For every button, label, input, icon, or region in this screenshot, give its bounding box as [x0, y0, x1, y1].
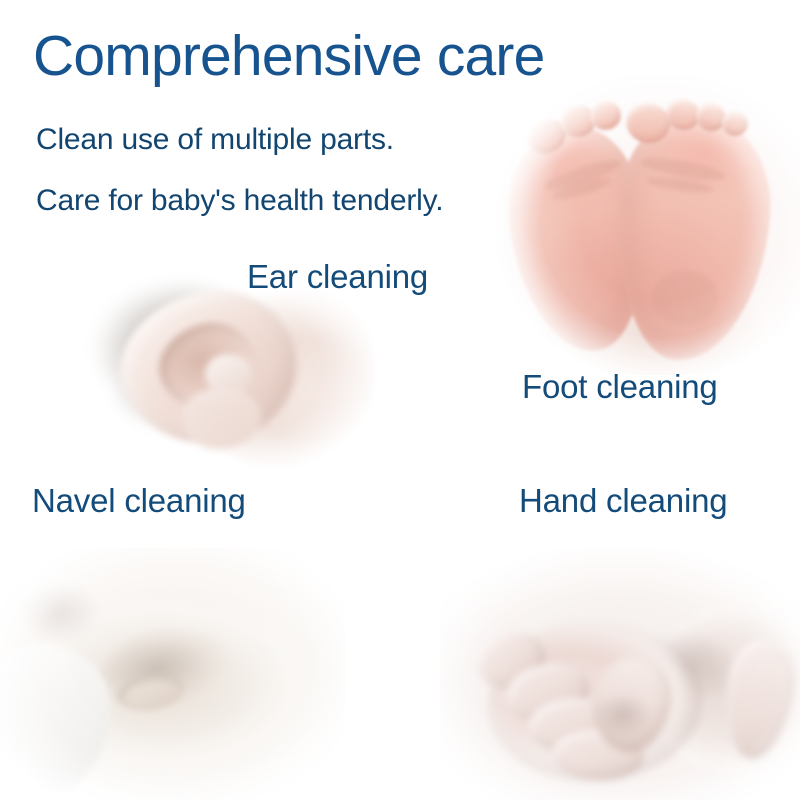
baby-feet-photo: [490, 75, 800, 375]
page-title: Comprehensive care: [33, 27, 545, 87]
baby-navel-photo: [0, 548, 345, 800]
baby-hand-photo: [440, 548, 800, 800]
label-navel-cleaning: Navel cleaning: [32, 482, 246, 520]
label-ear-cleaning: Ear cleaning: [247, 258, 428, 296]
product-care-poster: Comprehensive care Clean use of multiple…: [0, 0, 800, 800]
label-hand-cleaning: Hand cleaning: [519, 482, 727, 520]
label-foot-cleaning: Foot cleaning: [522, 368, 718, 406]
subtitle-line-1: Clean use of multiple parts.: [36, 123, 394, 157]
subtitle-line-2: Care for baby's health tenderly.: [36, 184, 443, 218]
